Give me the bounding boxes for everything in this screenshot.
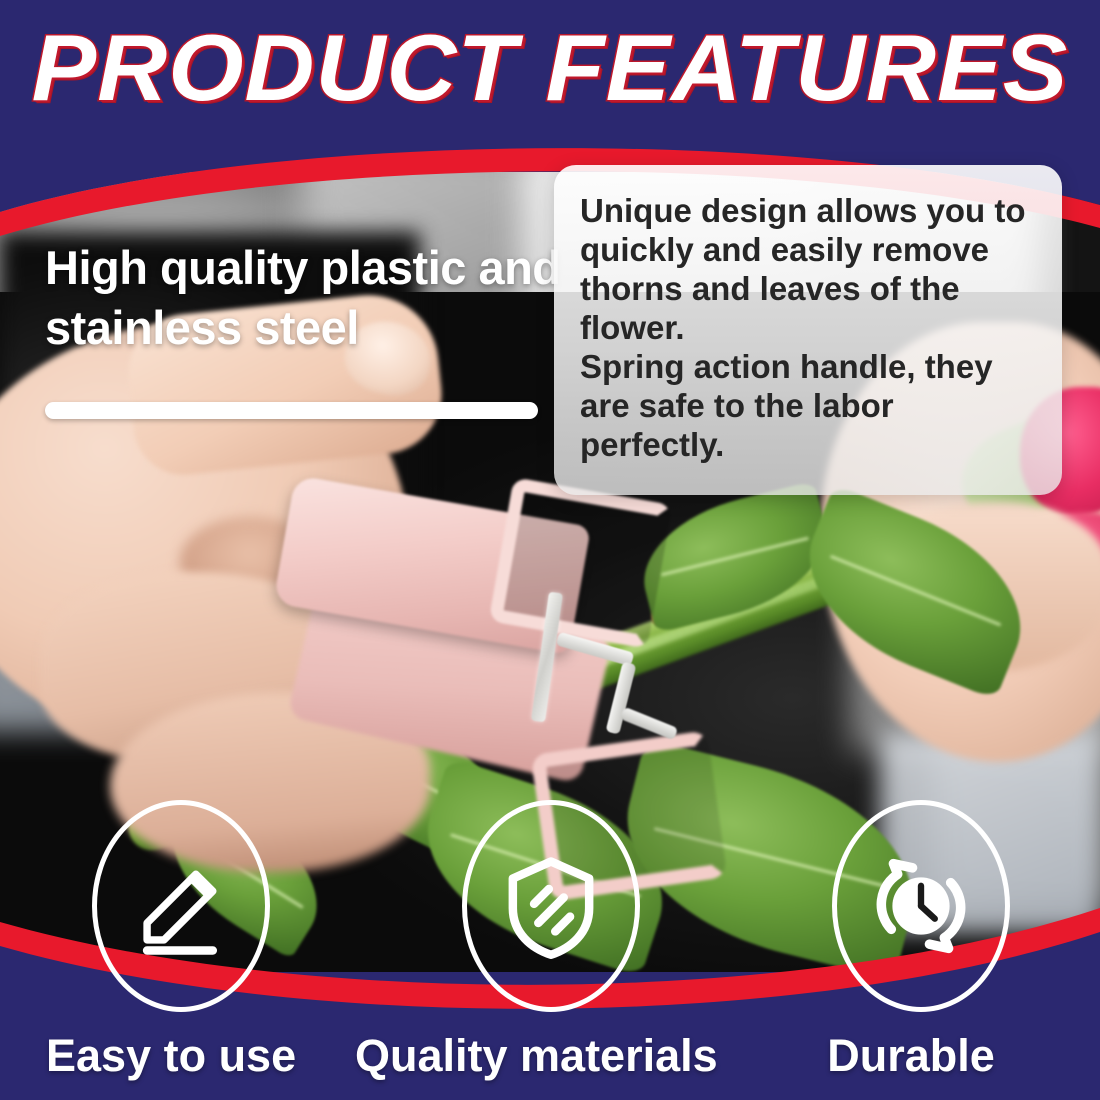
badge-ring	[92, 800, 270, 1012]
feature-badge-quality-materials: Quality materials	[462, 800, 640, 1082]
badge-ring	[832, 800, 1010, 1012]
pencil-icon	[128, 853, 234, 959]
feature-badge-durable: Durable	[832, 800, 1010, 1082]
feature-label: Quality materials	[355, 1030, 640, 1082]
feature-badges: Easy to use Quality materials	[0, 0, 1100, 1100]
feature-label: Durable	[812, 1030, 1010, 1082]
feature-label: Easy to use	[46, 1030, 270, 1082]
badge-ring	[462, 800, 640, 1012]
feature-badge-easy-to-use: Easy to use	[92, 800, 270, 1082]
shield-icon	[498, 853, 604, 959]
clock-refresh-icon	[868, 853, 974, 959]
product-features-poster: PRODUCT FEATURES High quality plastic an…	[0, 0, 1100, 1100]
